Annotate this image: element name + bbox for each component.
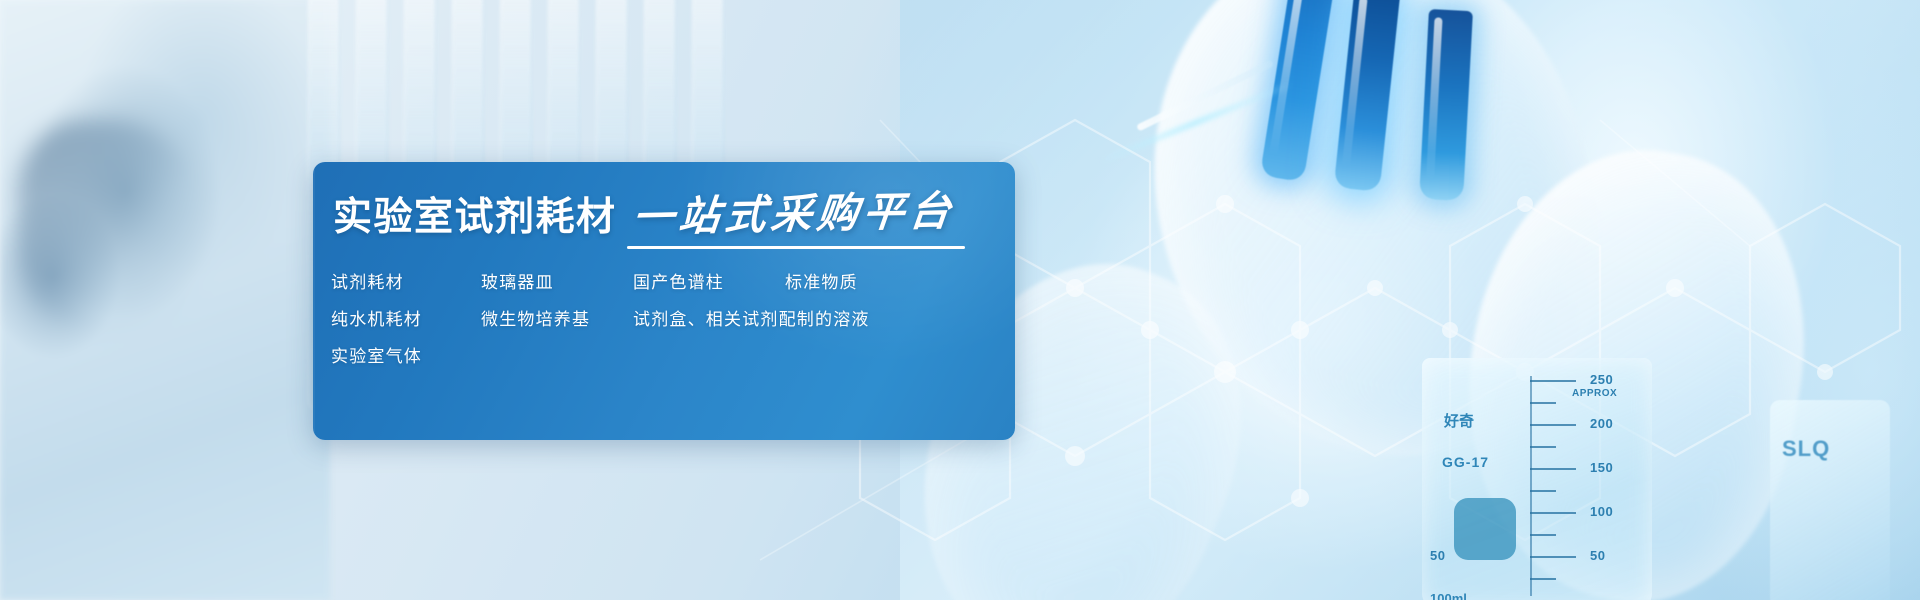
promo-panel: 实验室试剂耗材 一站式采购平台 试剂耗材 玻璃器皿 国产色谱柱 标准物质 纯水机… (313, 162, 1015, 440)
headline-underline (627, 246, 965, 249)
beaker-graduation-scale (1530, 376, 1582, 596)
beaker-mark-100: 100 (1590, 504, 1613, 519)
headline-script-text: 一站式采购平台 (630, 191, 957, 239)
headline-bold-text: 实验室试剂耗材 (333, 198, 617, 237)
headline: 实验室试剂耗材 一站式采购平台 (331, 194, 1015, 237)
beaker-mark-250: 250 (1590, 372, 1613, 387)
beaker-brand-label: 好奇 (1444, 410, 1474, 431)
background-beaker: 好奇 GG-17 100ml 250 APPROX 200 150 100 50… (1422, 358, 1652, 600)
headline-script-wrap: 一站式采购平台 (633, 194, 955, 237)
beaker-code-label: GG-17 (1442, 454, 1489, 470)
beaker-mark-50-left: 50 (1430, 548, 1445, 563)
beaker-sticker (1454, 498, 1516, 560)
beaker-volume-label: 100ml (1430, 591, 1467, 600)
lab-reagent-banner: 好奇 GG-17 100ml 250 APPROX 200 150 100 50… (0, 0, 1920, 600)
beaker-mark-200: 200 (1590, 416, 1613, 431)
beaker-mark-50: 50 (1590, 548, 1605, 563)
category-item-laboratory-gases[interactable]: 实验室气体 (331, 349, 481, 366)
category-item-glassware[interactable]: 玻璃器皿 (481, 275, 633, 292)
category-item-water-purifier-consumables[interactable]: 纯水机耗材 (331, 312, 481, 329)
background-cylinder: SLQ (1770, 400, 1890, 600)
cylinder-brand-label: SLQ (1782, 436, 1830, 462)
category-row: 纯水机耗材 微生物培养基 试剂盒、相关试剂配制的溶液 (331, 312, 1015, 329)
category-item-microbial-culture-media[interactable]: 微生物培养基 (481, 312, 633, 329)
category-item-reference-materials[interactable]: 标准物质 (785, 275, 858, 292)
category-item-domestic-chromatography-column[interactable]: 国产色谱柱 (633, 275, 785, 292)
beaker-mark-150: 150 (1590, 460, 1613, 475)
beaker-approx-label: APPROX (1572, 388, 1617, 399)
category-list: 试剂耗材 玻璃器皿 国产色谱柱 标准物质 纯水机耗材 微生物培养基 试剂盒、相关… (331, 275, 1015, 366)
category-item-reagent-consumables[interactable]: 试剂耗材 (331, 275, 481, 292)
category-item-reagent-kits-solutions[interactable]: 试剂盒、相关试剂配制的溶液 (633, 312, 870, 329)
category-row: 实验室气体 (331, 349, 1015, 366)
category-row: 试剂耗材 玻璃器皿 国产色谱柱 标准物质 (331, 275, 1015, 292)
background-gloved-hands (900, 0, 1920, 600)
background-microscope-blur (0, 0, 330, 600)
